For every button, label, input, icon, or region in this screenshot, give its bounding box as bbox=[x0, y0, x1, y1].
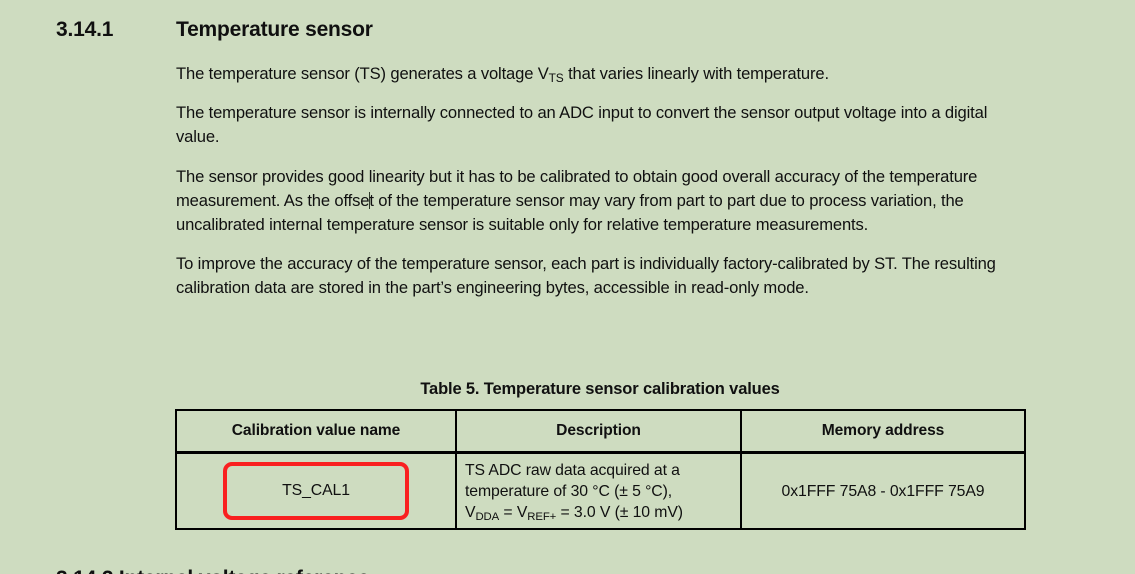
paragraph-1: The temperature sensor (TS) generates a … bbox=[176, 62, 1024, 86]
paragraph-1-text-after: that varies linearly with temperature. bbox=[564, 64, 829, 83]
table-row: TS_CAL1 TS ADC raw data acquired at a te… bbox=[176, 453, 1025, 530]
v-dda-subscript: DDA bbox=[475, 510, 499, 522]
column-header-calibration-value-name: Calibration value name bbox=[176, 410, 456, 453]
v-ts-subscript: TS bbox=[549, 71, 564, 85]
column-header-memory-address: Memory address bbox=[741, 410, 1025, 453]
v-dda-label: V bbox=[465, 504, 475, 521]
description-line-1: TS ADC raw data acquired at a bbox=[465, 460, 734, 481]
highlight-box-ts-cal1: TS_CAL1 bbox=[223, 462, 409, 521]
page-title: Temperature sensor bbox=[176, 18, 373, 42]
section-heading: 3.14.1 Temperature sensor bbox=[0, 18, 1135, 42]
column-header-description: Description bbox=[456, 410, 741, 453]
paragraph-2: The temperature sensor is internally con… bbox=[176, 101, 1024, 149]
paragraph-3: The sensor provides good linearity but i… bbox=[176, 165, 1024, 238]
section-number: 3.14.1 bbox=[56, 18, 176, 42]
cell-calibration-value-name: TS_CAL1 bbox=[176, 453, 456, 530]
description-line-3-middle: = V bbox=[499, 504, 527, 521]
table-header-row: Calibration value name Description Memor… bbox=[176, 410, 1025, 453]
v-ref-subscript: REF+ bbox=[527, 510, 556, 522]
table-caption: Table 5. Temperature sensor calibration … bbox=[176, 380, 1024, 399]
description-line-3-end: = 3.0 V (± 10 mV) bbox=[556, 504, 683, 521]
calibration-values-table: Calibration value name Description Memor… bbox=[175, 409, 1026, 530]
body-content: The temperature sensor (TS) generates a … bbox=[176, 62, 1024, 301]
clipped-next-heading: 3.14.2 Internal voltage reference bbox=[56, 568, 956, 574]
cell-memory-address: 0x1FFF 75A8 - 0x1FFF 75A9 bbox=[741, 453, 1025, 530]
paragraph-1-text-before: The temperature sensor (TS) generates a … bbox=[176, 64, 549, 83]
description-line-2: temperature of 30 °C (± 5 °C), bbox=[465, 481, 734, 502]
clipped-next-heading-text: 3.14.2 Internal voltage reference bbox=[56, 568, 956, 574]
cell-description: TS ADC raw data acquired at a temperatur… bbox=[456, 453, 741, 530]
description-line-3: VDDA = VREF+ = 3.0 V (± 10 mV) bbox=[465, 502, 734, 523]
paragraph-4: To improve the accuracy of the temperatu… bbox=[176, 252, 1024, 300]
